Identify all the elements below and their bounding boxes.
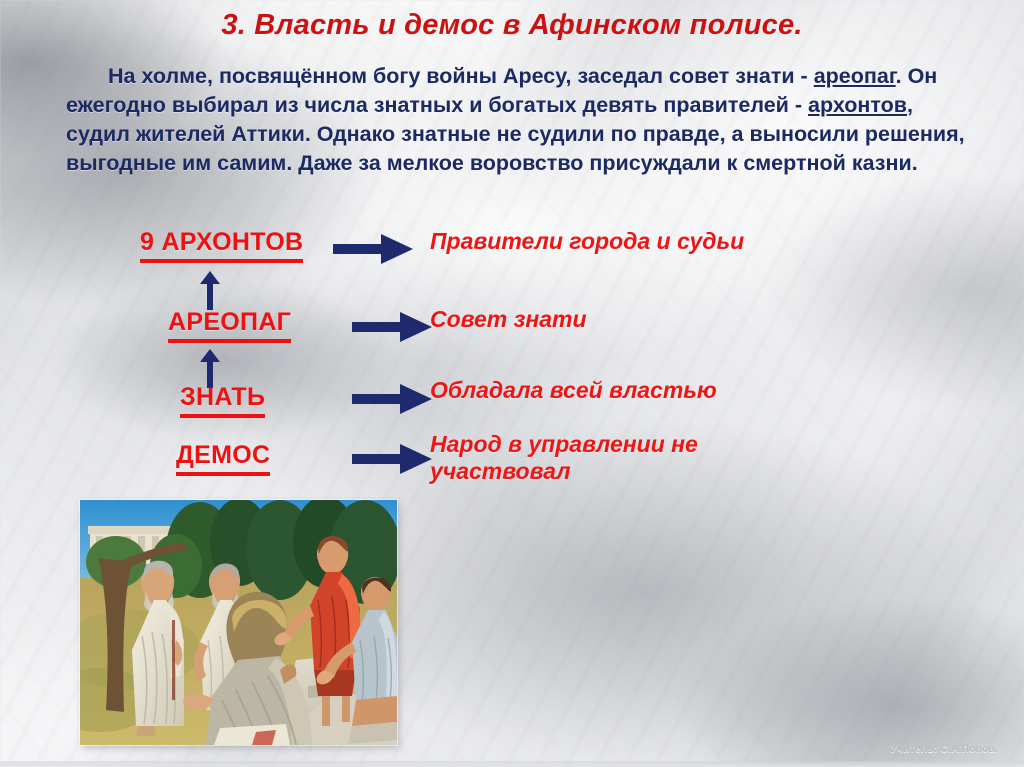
level-2-label: АРЕОПАГ	[168, 308, 291, 343]
bottom-strip	[0, 761, 1024, 767]
slide-title: 3. Власть и демос в Афинском полисе.	[0, 9, 1024, 42]
level-3-nobility: ЗНАТЬ	[180, 383, 265, 418]
level-1-label: 9 АРХОНТОВ	[140, 228, 303, 263]
level-3-label: ЗНАТЬ	[180, 383, 265, 418]
right-arrow-1	[333, 232, 415, 266]
slide-root: 3. Власть и демос в Афинском полисе. На …	[0, 0, 1024, 767]
level-3-description: Обладала всей властью	[430, 377, 717, 404]
up-arrow-2	[199, 348, 221, 388]
body-term-arhontov: архонтов	[808, 93, 907, 117]
level-1-archons: 9 АРХОНТОВ	[140, 228, 303, 263]
level-2-areopagus: АРЕОПАГ	[168, 308, 291, 343]
right-arrow-3	[352, 382, 434, 416]
body-paragraph: На холме, посвящённом богу войны Аресу, …	[66, 62, 966, 179]
right-arrow-2	[352, 310, 434, 344]
greek-assembly-painting	[80, 500, 397, 745]
level-4-description: Народ в управлении не участвовал	[430, 431, 698, 484]
level-4-label: ДЕМОС	[176, 441, 270, 476]
author-credit: Учитель: С.А.Попов.	[891, 744, 998, 755]
level-4-demos: ДЕМОС	[176, 441, 270, 476]
body-term-areopag: ареопаг	[814, 64, 896, 88]
level-1-description: Правители города и судьи	[430, 228, 744, 255]
hierarchy-diagram: 9 АРХОНТОВ Правители города и судьи АРЕО…	[0, 226, 1024, 496]
right-arrow-4	[352, 442, 434, 476]
body-segment-0: На холме, посвящённом богу войны Аресу, …	[108, 64, 814, 88]
up-arrow-1	[199, 270, 221, 310]
painting-artwork	[80, 500, 397, 745]
level-2-description: Совет знати	[430, 306, 587, 333]
